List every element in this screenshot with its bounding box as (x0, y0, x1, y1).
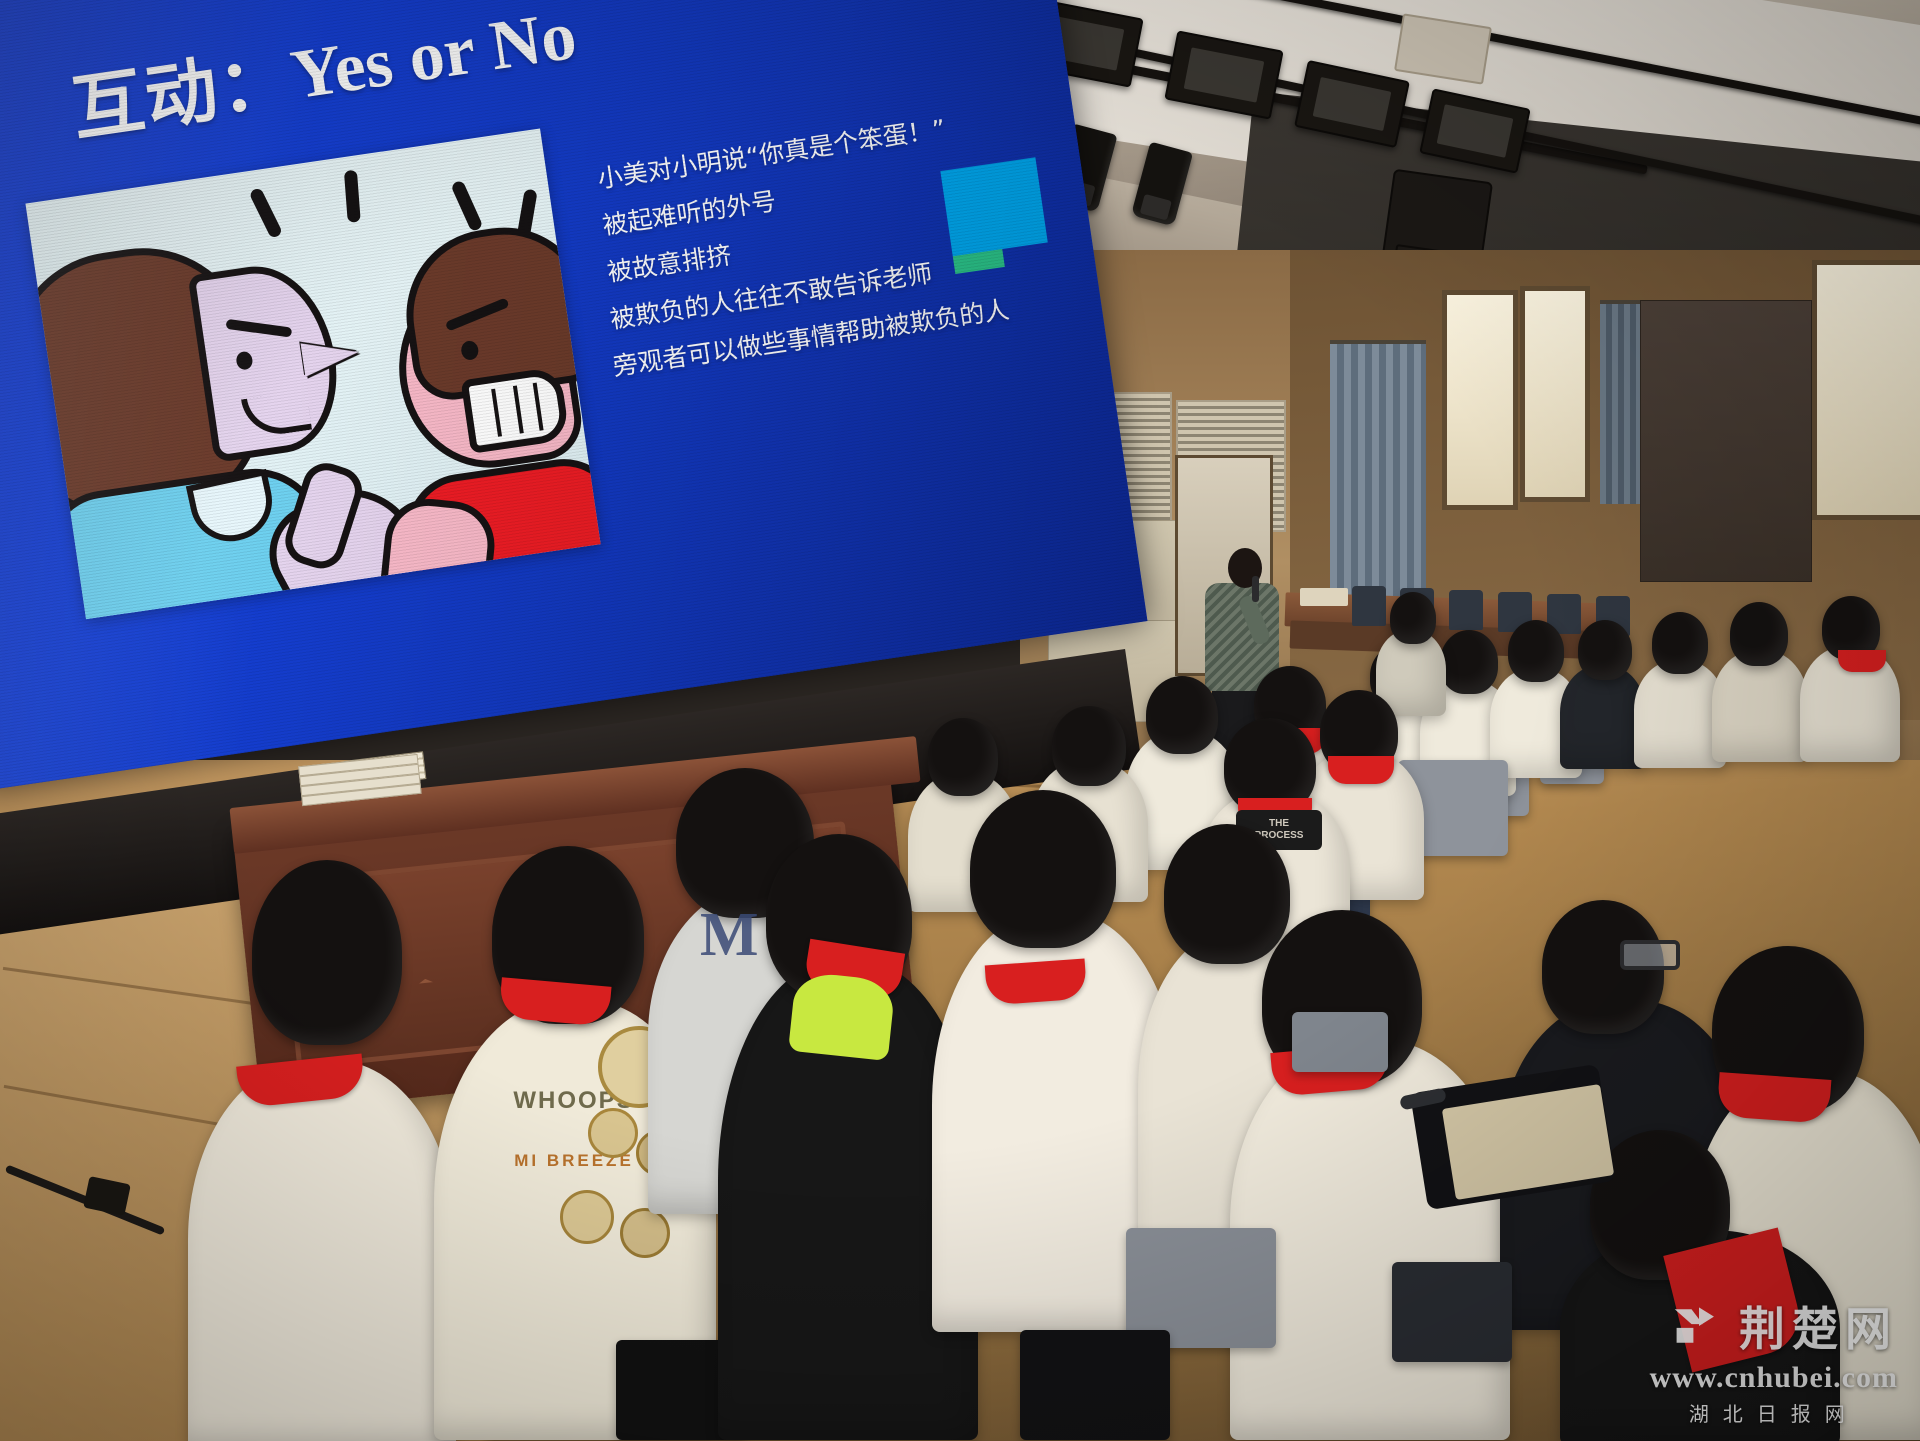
red-scarf (1838, 650, 1886, 672)
window (1812, 260, 1920, 520)
shirt-badge-icon (588, 1108, 638, 1158)
student-head (1440, 630, 1498, 694)
watermark-url: www.cnhubei.com (1650, 1361, 1898, 1395)
audience-chair[interactable] (1020, 1330, 1170, 1440)
back-books (1300, 588, 1348, 606)
glasses-icon (1620, 940, 1680, 970)
student-head (1730, 602, 1788, 666)
red-scarf (1328, 756, 1394, 784)
student-head (1146, 676, 1218, 754)
student-head (1508, 620, 1564, 682)
student-head (1652, 612, 1708, 674)
shirt-print-m: M (700, 900, 759, 971)
shirt-badge-icon (560, 1190, 614, 1244)
student-head (252, 860, 402, 1045)
audience-chair[interactable] (1392, 1262, 1512, 1362)
student-head (1578, 620, 1632, 680)
wall-panel-right (1640, 300, 1812, 582)
window (1442, 290, 1518, 510)
back-chair[interactable] (1352, 586, 1386, 626)
back-chair[interactable] (1449, 590, 1483, 630)
student-head (970, 790, 1116, 948)
teacher-head (1390, 592, 1436, 644)
watermark-brand: 荆楚网 (1739, 1293, 1898, 1359)
student-head (1164, 824, 1290, 964)
window-curtain (1330, 340, 1426, 604)
student-shirt (188, 1060, 456, 1441)
watermark: 荆楚网 www.cnhubei.com 湖北日报网 (1650, 1293, 1898, 1427)
microphone-icon (1252, 576, 1259, 602)
window (1520, 286, 1590, 502)
student-head (1052, 706, 1126, 786)
student-head (928, 718, 998, 796)
shirt-badge-icon (620, 1208, 670, 1258)
photo-canvas: 互动：Yes or No (0, 0, 1920, 1441)
cnhubei-logo-icon (1671, 1303, 1727, 1349)
student-shirt (1712, 650, 1808, 762)
watermark-subtitle: 湖北日报网 (1650, 1398, 1898, 1427)
audience-chair[interactable] (1292, 1012, 1388, 1072)
